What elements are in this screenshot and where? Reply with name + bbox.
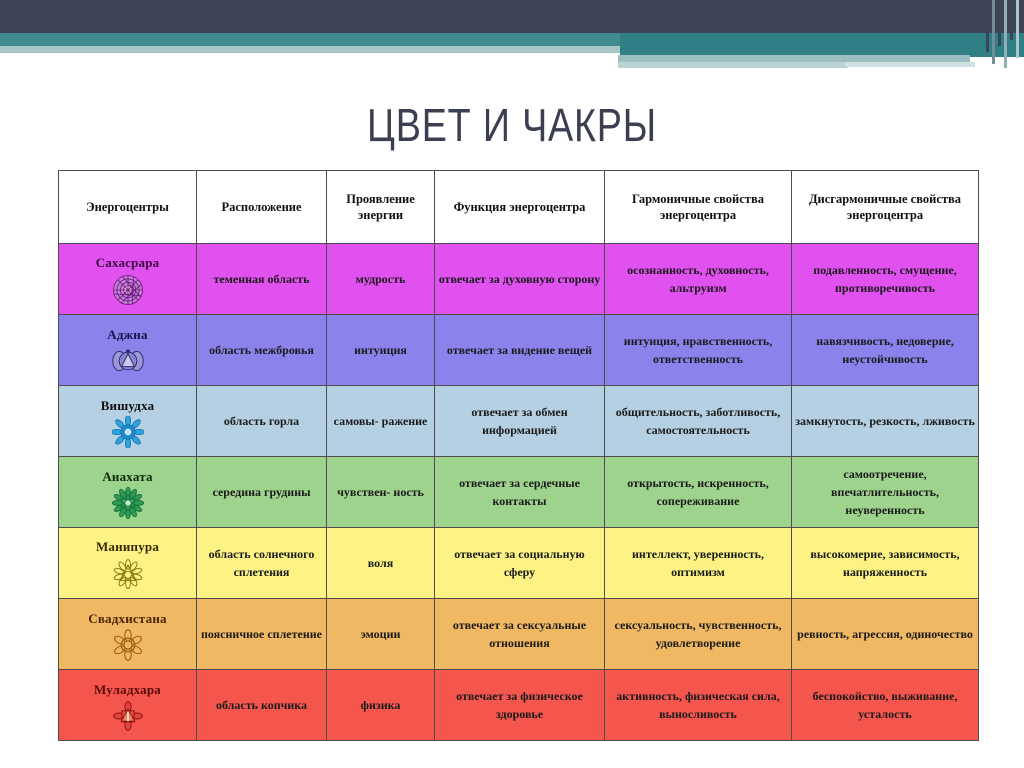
chakra-disharmonious-cell: высокомерие, зависимость, напряженность (792, 528, 979, 599)
column-header-harmonious: Гармоничные свойства энергоцентра (605, 171, 792, 244)
chakra-location-cell: теменная область (197, 244, 327, 315)
chakra-name-cell: Манипура (59, 528, 197, 599)
chakra-manifestation-cell: чувствен- ность (327, 457, 435, 528)
svadhisthana-sacral-icon (112, 629, 144, 661)
banner-band-pale-4 (845, 62, 975, 67)
chakra-harmonious-cell: общительность, заботливость, самостоятел… (605, 386, 792, 457)
chakra-manifestation-cell: физика (327, 670, 435, 741)
chakra-name-label: Аджна (62, 325, 193, 345)
banner-stripe-4 (1004, 0, 1007, 68)
chakra-name-cell: Аджна (59, 315, 197, 386)
table-row: Свадхистана (59, 599, 979, 670)
anahata-heart-icon (112, 487, 144, 519)
chakra-name-label: Сахасрара (62, 253, 193, 273)
ajna-third-eye-icon (111, 345, 145, 377)
chakra-function-cell: отвечает за обмен информацией (435, 386, 605, 457)
chakra-function-cell: отвечает за сексуальные отношения (435, 599, 605, 670)
chakra-location-cell: поясничное сплетение (197, 599, 327, 670)
chakra-name-cell: Сахасрара (59, 244, 197, 315)
chakra-name-label: Вишудха (62, 396, 193, 416)
chakra-name-label: Свадхистана (62, 609, 193, 629)
chakra-manifestation-cell: самовы- ражение (327, 386, 435, 457)
banner-stripe-3 (998, 0, 1001, 46)
table-body: Сахасрара (59, 244, 979, 741)
table-row: Аджна область межбровья интуиция отвечае… (59, 315, 979, 386)
chakra-name-label: Муладхара (62, 680, 193, 700)
chakra-name-cell: Свадхистана (59, 599, 197, 670)
chakra-function-cell: отвечает за социальную сферу (435, 528, 605, 599)
chakra-location-cell: область солнечного сплетения (197, 528, 327, 599)
chakra-location-cell: область межбровья (197, 315, 327, 386)
chakra-disharmonious-cell: навязчивость, недоверие, неустойчивость (792, 315, 979, 386)
banner-stripe-1 (986, 0, 989, 52)
chakra-disharmonious-cell: беспокойство, выживание, усталость (792, 670, 979, 741)
chakra-function-cell: отвечает за физическое здоровье (435, 670, 605, 741)
chakra-location-cell: середина грудины (197, 457, 327, 528)
table-row: Анахата (59, 457, 979, 528)
chakra-harmonious-cell: интеллект, уверенность, оптимизм (605, 528, 792, 599)
table-header-row: Энергоцентры Расположение Проявление эне… (59, 171, 979, 244)
chakra-harmonious-cell: интуиция, нравственность, ответственност… (605, 315, 792, 386)
chakra-harmonious-cell: осознанность, духовность, альтруизм (605, 244, 792, 315)
sahasrara-lotus-icon (111, 273, 145, 307)
chakra-disharmonious-cell: ревность, агрессия, одиночество (792, 599, 979, 670)
banner-stripe-6 (1016, 0, 1019, 58)
manipura-solar-plexus-icon (112, 557, 144, 591)
page-title: ЦВЕТ И ЧАКРЫ (92, 98, 932, 152)
chakra-manifestation-cell: интуиция (327, 315, 435, 386)
chakra-name-label: Анахата (62, 467, 193, 487)
chakra-disharmonious-cell: самоотречение, впечатлительность, неувер… (792, 457, 979, 528)
chakra-name-cell: Вишудха (59, 386, 197, 457)
column-header-energy-centers: Энергоцентры (59, 171, 197, 244)
chakra-disharmonious-cell: подавленность, смущение, противоречивост… (792, 244, 979, 315)
chakra-harmonious-cell: открытость, искренность, сопереживание (605, 457, 792, 528)
chakra-name-label: Манипура (62, 537, 193, 557)
chakra-function-cell: отвечает за сердечные контакты (435, 457, 605, 528)
column-header-location: Расположение (197, 171, 327, 244)
chakra-table: Энергоцентры Расположение Проявление эне… (58, 170, 979, 741)
table-row: Манипура (59, 528, 979, 599)
chakra-harmonious-cell: активность, физическая сила, выносливост… (605, 670, 792, 741)
table-row: Муладхара область копч (59, 670, 979, 741)
chakra-location-cell: область горла (197, 386, 327, 457)
table-row: Вишудха (59, 386, 979, 457)
table-row: Сахасрара (59, 244, 979, 315)
column-header-function: Функция энергоцентра (435, 171, 605, 244)
vishuddha-throat-icon (112, 416, 144, 448)
banner-band-pale-1 (0, 46, 620, 53)
banner-band-dark (0, 0, 1024, 33)
banner-stripe-2 (992, 0, 995, 64)
chakra-manifestation-cell: воля (327, 528, 435, 599)
column-header-manifestation: Проявление энергии (327, 171, 435, 244)
chakra-manifestation-cell: эмоции (327, 599, 435, 670)
banner-stripe-5 (1010, 0, 1013, 40)
banner-band-teal-dark (620, 33, 1024, 57)
chakra-location-cell: область копчика (197, 670, 327, 741)
chakra-function-cell: отвечает за духовную сторону (435, 244, 605, 315)
banner-band-pale-3 (618, 62, 848, 68)
chakra-manifestation-cell: мудрость (327, 244, 435, 315)
decorative-banner (0, 0, 1024, 80)
muladhara-root-icon (113, 700, 143, 732)
column-header-disharmonious: Дисгармоничные свойства энергоцентра (792, 171, 979, 244)
chakra-disharmonious-cell: замкнутость, резкость, лживость (792, 386, 979, 457)
chakra-name-cell: Муладхара (59, 670, 197, 741)
chakra-function-cell: отвечает за видение вещей (435, 315, 605, 386)
table-header: Энергоцентры Расположение Проявление эне… (59, 171, 979, 244)
chakra-name-cell: Анахата (59, 457, 197, 528)
chakra-harmonious-cell: сексуальность, чувственность, удовлетвор… (605, 599, 792, 670)
